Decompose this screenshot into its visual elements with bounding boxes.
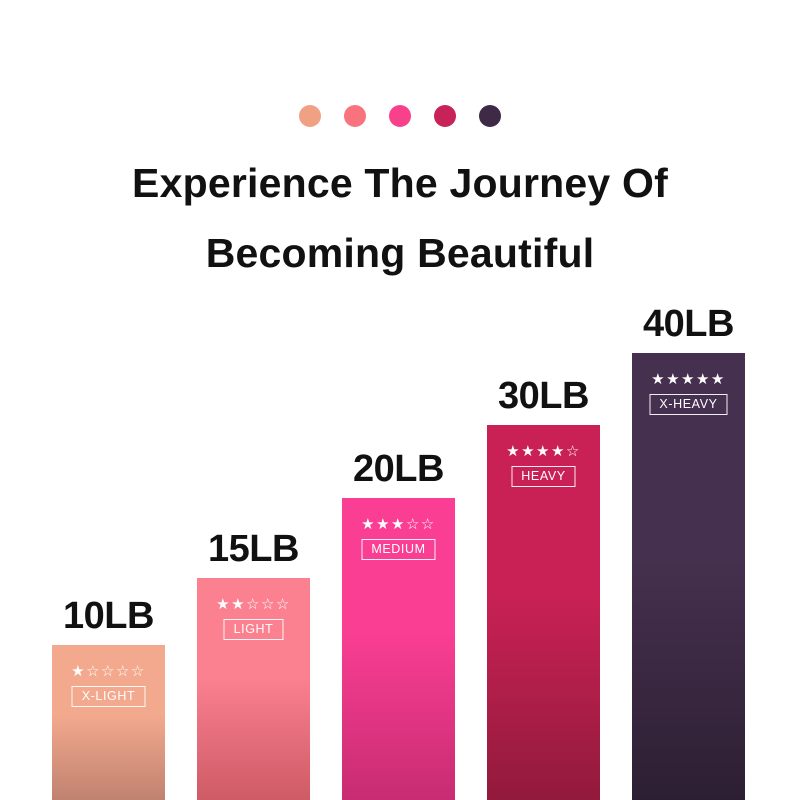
bar-badge: ★★★★☆HEAVY: [487, 443, 600, 487]
level-label-light: LIGHT: [224, 619, 284, 640]
star-rating-icon: ★☆☆☆☆: [52, 663, 165, 680]
bar-column-x-heavy[interactable]: 40LB★★★★★X-HEAVY: [632, 353, 745, 800]
bar-badge: ★★☆☆☆LIGHT: [197, 596, 310, 640]
bar-column-light[interactable]: 15LB★★☆☆☆LIGHT: [197, 578, 310, 800]
weight-label-20lb: 20LB: [353, 448, 444, 491]
bar-column-x-light[interactable]: 10LB★☆☆☆☆X-LIGHT: [52, 645, 165, 800]
weight-label-30lb: 30LB: [498, 375, 589, 418]
bar-fill: ★★★★★X-HEAVY: [632, 353, 745, 800]
star-rating-icon: ★★★★★: [632, 371, 745, 388]
bar-column-heavy[interactable]: 30LB★★★★☆HEAVY: [487, 425, 600, 800]
poster-root: Experience The Journey Of Becoming Beaut…: [0, 0, 800, 800]
bar-column-medium[interactable]: 20LB★★★☆☆MEDIUM: [342, 498, 455, 800]
weight-label-15lb: 15LB: [208, 528, 299, 571]
resistance-bar-chart: 10LB★☆☆☆☆X-LIGHT15LB★★☆☆☆LIGHT20LB★★★☆☆M…: [0, 0, 800, 800]
bar-badge: ★★★☆☆MEDIUM: [342, 516, 455, 560]
weight-label-10lb: 10LB: [63, 595, 154, 638]
star-rating-icon: ★★★★☆: [487, 443, 600, 460]
level-label-x-light: X-LIGHT: [72, 686, 146, 707]
star-rating-icon: ★★☆☆☆: [197, 596, 310, 613]
level-label-heavy: HEAVY: [511, 466, 575, 487]
bar-fill: ★★★★☆HEAVY: [487, 425, 600, 800]
bar-badge: ★★★★★X-HEAVY: [632, 371, 745, 415]
bar-fill: ★★☆☆☆LIGHT: [197, 578, 310, 800]
weight-label-40lb: 40LB: [643, 303, 734, 346]
bar-fill: ★★★☆☆MEDIUM: [342, 498, 455, 800]
level-label-medium: MEDIUM: [361, 539, 435, 560]
star-rating-icon: ★★★☆☆: [342, 516, 455, 533]
bar-badge: ★☆☆☆☆X-LIGHT: [52, 663, 165, 707]
bar-fill: ★☆☆☆☆X-LIGHT: [52, 645, 165, 800]
level-label-x-heavy: X-HEAVY: [649, 394, 727, 415]
